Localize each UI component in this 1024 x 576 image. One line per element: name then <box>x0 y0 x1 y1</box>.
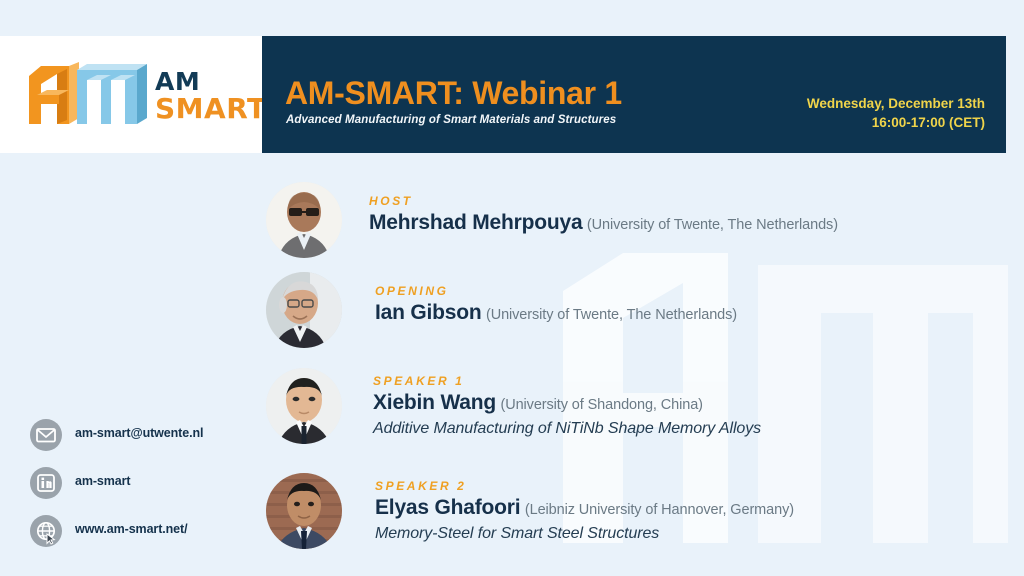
name-line: Elyas Ghafoori (Leibniz University of Ha… <box>375 495 794 523</box>
am-smart-logo: AM SMART <box>27 62 247 128</box>
role-label: SPEAKER 2 <box>375 479 794 493</box>
avatar <box>266 368 342 444</box>
person-affiliation: (University of Twente, The Netherlands) <box>587 217 838 233</box>
person-info: SPEAKER 2 Elyas Ghafoori (Leibniz Univer… <box>375 479 794 545</box>
list-item: HOST Mehrshad Mehrpouya (University of T… <box>0 176 1024 266</box>
page-title: AM-SMART: Webinar 1 <box>285 75 622 112</box>
webinar-poster: AM SMART AM-SMART: Webinar 1 Advanced Ma… <box>0 0 1024 576</box>
person-info: HOST Mehrshad Mehrpouya (University of T… <box>369 194 838 238</box>
header-band: AM SMART AM-SMART: Webinar 1 Advanced Ma… <box>0 36 1006 153</box>
person-name: Mehrshad Mehrpouya <box>369 211 582 234</box>
person-affiliation: (Leibniz University of Hannover, Germany… <box>525 502 794 518</box>
name-line: Xiebin Wang (University of Shandong, Chi… <box>373 390 761 418</box>
avatar <box>266 473 342 549</box>
avatar <box>266 182 342 258</box>
logo-panel: AM SMART <box>0 36 262 153</box>
person-name: Xiebin Wang <box>373 391 496 414</box>
name-line: Ian Gibson (University of Twente, The Ne… <box>375 300 737 328</box>
person-info: SPEAKER 1 Xiebin Wang (University of Sha… <box>373 374 761 440</box>
globe-cursor-icon <box>30 515 62 547</box>
date-time-block: Wednesday, December 13th 16:00-17:00 (CE… <box>807 94 985 132</box>
person-name: Ian Gibson <box>375 301 482 324</box>
name-line: Mehrshad Mehrpouya (University of Twente… <box>369 210 838 238</box>
linkedin-icon <box>30 467 62 499</box>
logo-wordmark-am: AM <box>155 69 251 94</box>
contact-email-text: am-smart@utwente.nl <box>75 426 203 440</box>
talk-title: Additive Manufacturing of NiTiNb Shape M… <box>373 418 761 440</box>
role-label: SPEAKER 1 <box>373 374 761 388</box>
person-name: Elyas Ghafoori <box>375 496 520 519</box>
list-item: SPEAKER 1 Xiebin Wang (University of Sha… <box>0 356 1024 456</box>
title-panel: AM-SMART: Webinar 1 Advanced Manufacturi… <box>262 36 1006 153</box>
logo-wordmark: AM SMART <box>155 69 251 123</box>
list-item: SPEAKER 2 Elyas Ghafoori (Leibniz Univer… <box>0 461 1024 561</box>
talk-title: Memory-Steel for Smart Steel Structures <box>375 523 794 545</box>
list-item: OPENING Ian Gibson (University of Twente… <box>0 266 1024 356</box>
contact-website-text: www.am-smart.net/ <box>75 522 187 536</box>
webinar-time: 16:00-17:00 (CET) <box>807 113 985 132</box>
am-smart-isometric-logo-icon <box>27 62 155 128</box>
person-affiliation: (University of Shandong, China) <box>500 397 702 413</box>
contact-linkedin-text: am-smart <box>75 474 130 488</box>
avatar <box>266 272 342 348</box>
role-label: HOST <box>369 194 838 208</box>
person-affiliation: (University of Twente, The Netherlands) <box>486 307 737 323</box>
page-subtitle: Advanced Manufacturing of Smart Material… <box>286 114 616 126</box>
person-info: OPENING Ian Gibson (University of Twente… <box>375 284 737 328</box>
role-label: OPENING <box>375 284 737 298</box>
webinar-date: Wednesday, December 13th <box>807 94 985 113</box>
logo-wordmark-smart: SMART <box>155 94 251 123</box>
envelope-icon <box>30 419 62 451</box>
